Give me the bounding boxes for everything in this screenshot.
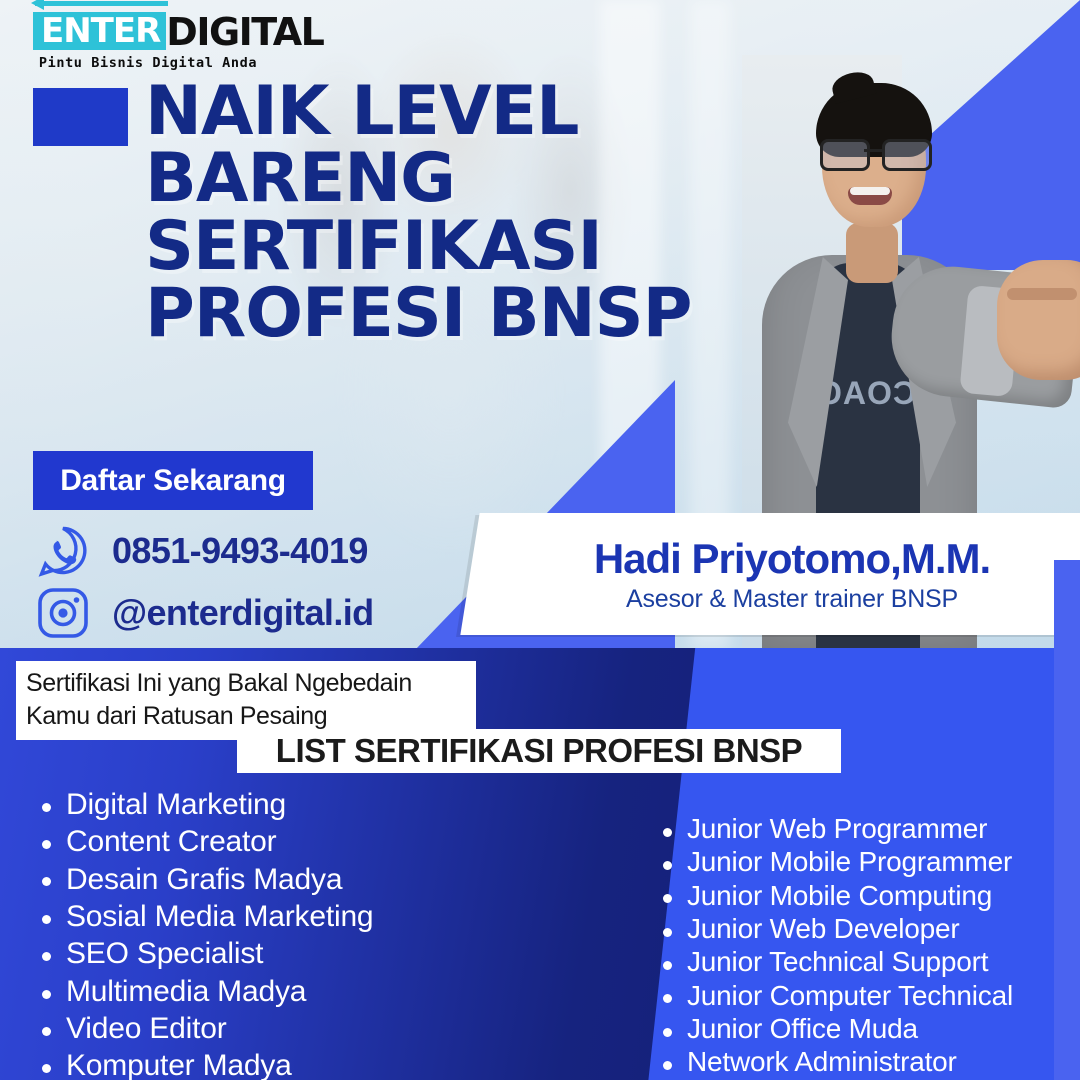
list-item: Network Administrator [655,1045,1075,1078]
speaker-pointing-hand [997,260,1080,380]
list-item: Sosial Media Marketing [34,898,504,935]
speaker-shirt-text: COACH [820,375,916,412]
list-item: Digital Marketing [34,786,504,823]
list-item: Junior Web Developer [655,912,1075,945]
page-title: NAIK LEVEL BARENG SERTIFIKASI PROFESI BN… [145,78,785,347]
list-item: Komputer Madya [34,1047,504,1080]
speaker-neck [846,223,898,283]
headline-line-3: SERTIFIKASI [145,213,785,280]
register-button[interactable]: Daftar Sekarang [33,451,313,510]
promo-poster: COACH ENTER DIGITAL Pintu Bisnis Digital… [0,0,1080,1080]
certification-list-right: Junior Web Programmer Junior Mobile Prog… [655,812,1075,1079]
headline-line-4: PROFESI BNSP [145,280,785,347]
list-item: Junior Office Muda [655,1012,1075,1045]
logo-digital-text: DIGITAL [166,15,323,50]
speaker-role: Asesor & Master trainer BNSP [626,585,958,614]
headline-line-1: NAIK LEVEL [145,78,785,145]
list-item: Junior Mobile Programmer [655,845,1075,878]
whatsapp-number: 0851-9493-4019 [112,530,368,572]
logo-tagline: Pintu Bisnis Digital Anda [33,55,263,71]
logo-enter-text: ENTER [33,12,166,50]
list-item: Junior Computer Technical [655,979,1075,1012]
certification-list-left: Digital Marketing Content Creator Desain… [34,786,504,1080]
speaker-name-card-content: Hadi Priyotomo,M.M. Asesor & Master trai… [492,513,1080,635]
list-item: Desain Grafis Madya [34,861,504,898]
list-item: Junior Web Programmer [655,812,1075,845]
brand-logo: ENTER DIGITAL Pintu Bisnis Digital Anda [33,12,303,71]
speaker-glasses [820,139,930,165]
instagram-contact[interactable]: @enterdigital.id [36,586,374,640]
headline-accent-square [33,88,128,146]
list-item: Junior Mobile Computing [655,879,1075,912]
whatsapp-icon [36,524,90,578]
speaker-mouth [848,187,892,205]
speaker-name: Hadi Priyotomo,M.M. [594,535,990,583]
list-item: SEO Specialist [34,935,504,972]
list-item: Content Creator [34,823,504,860]
instagram-icon [36,586,90,640]
list-item: Video Editor [34,1010,504,1047]
instagram-handle: @enterdigital.id [112,592,374,634]
headline-line-2: BARENG [145,145,785,212]
list-title: LIST SERTIFIKASI PROFESI BNSP [237,729,841,773]
whatsapp-contact[interactable]: 0851-9493-4019 [36,524,368,578]
list-item: Junior Technical Support [655,945,1075,978]
list-item: Multimedia Madya [34,973,504,1010]
